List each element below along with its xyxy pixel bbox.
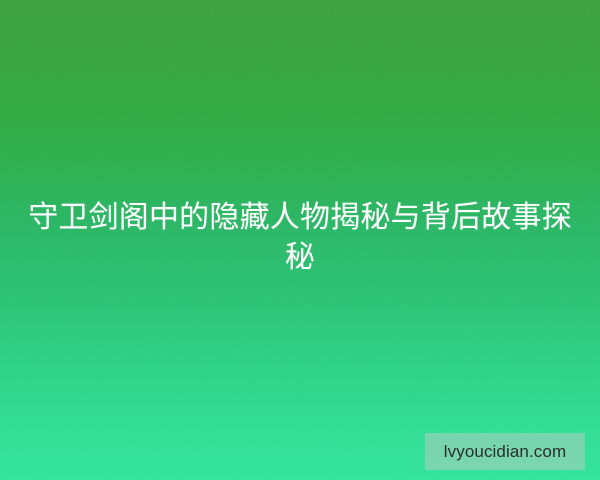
page-title: 守卫剑阁中的隐藏人物揭秘与背后故事探秘 bbox=[26, 198, 574, 278]
watermark-label: lvyoucidian.com bbox=[444, 443, 566, 460]
cover-image-canvas: 守卫剑阁中的隐藏人物揭秘与背后故事探秘 lvyoucidian.com bbox=[0, 0, 600, 480]
watermark-badge: lvyoucidian.com bbox=[425, 433, 585, 470]
title-block: 守卫剑阁中的隐藏人物揭秘与背后故事探秘 bbox=[26, 198, 574, 278]
